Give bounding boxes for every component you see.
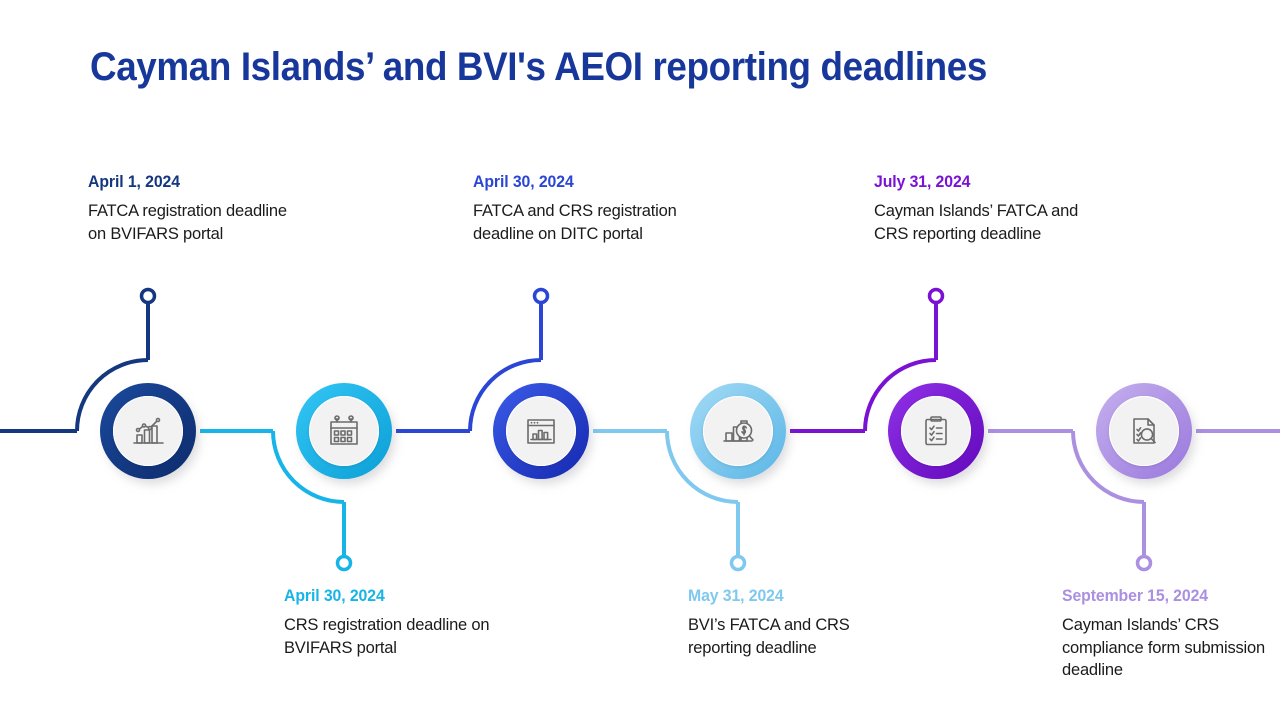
timeline-node-1[interactable] [100, 383, 196, 479]
timeline-date-2: April 30, 2024 [284, 586, 479, 606]
timeline-date-3: April 30, 2024 [473, 172, 668, 192]
timeline-date-1: April 1, 2024 [88, 172, 283, 192]
clipboard-checklist-icon [917, 412, 955, 450]
node-inner-disc [113, 396, 183, 466]
timeline-date-6: September 15, 2024 [1062, 586, 1257, 606]
timeline-label-6: September 15, 2024 Cayman Islands’ CRS c… [1062, 586, 1272, 682]
node-inner-disc [901, 396, 971, 466]
timeline-desc-2: CRS registration deadline on BVIFARS por… [284, 614, 494, 659]
node-inner-disc [1109, 396, 1179, 466]
document-magnifier-icon [1125, 412, 1163, 450]
timeline-node-2[interactable] [296, 383, 392, 479]
timeline-desc-4: BVI’s FATCA and CRS reporting deadline [688, 614, 898, 659]
bar-chart-trend-icon [129, 412, 167, 450]
timeline-node-4[interactable] [690, 383, 786, 479]
timeline-node-3[interactable] [493, 383, 589, 479]
node-inner-disc [703, 396, 773, 466]
window-bar-chart-icon [522, 412, 560, 450]
timeline-date-4: May 31, 2024 [688, 586, 883, 606]
timeline-desc-5: Cayman Islands’ FATCA and CRS reporting … [874, 200, 1084, 245]
timeline-label-3: April 30, 2024 FATCA and CRS registratio… [473, 172, 683, 245]
timeline-desc-1: FATCA registration deadline on BVIFARS p… [88, 200, 298, 245]
timeline-desc-3: FATCA and CRS registration deadline on D… [473, 200, 683, 245]
timeline-label-4: May 31, 2024 BVI’s FATCA and CRS reporti… [688, 586, 898, 659]
timeline-label-2: April 30, 2024 CRS registration deadline… [284, 586, 494, 659]
timeline-node-6[interactable] [1096, 383, 1192, 479]
infographic-canvas: Cayman Islands’ and BVI's AEOI reporting… [0, 0, 1280, 720]
calendar-icon [325, 412, 363, 450]
node-inner-disc [309, 396, 379, 466]
timeline-label-1: April 1, 2024 FATCA registration deadlin… [88, 172, 298, 245]
timeline-node-5[interactable] [888, 383, 984, 479]
node-inner-disc [506, 396, 576, 466]
chart-dollar-magnifier-icon [719, 412, 757, 450]
timeline-label-5: July 31, 2024 Cayman Islands’ FATCA and … [874, 172, 1084, 245]
timeline-date-5: July 31, 2024 [874, 172, 1069, 192]
timeline-desc-6: Cayman Islands’ CRS compliance form subm… [1062, 614, 1272, 682]
